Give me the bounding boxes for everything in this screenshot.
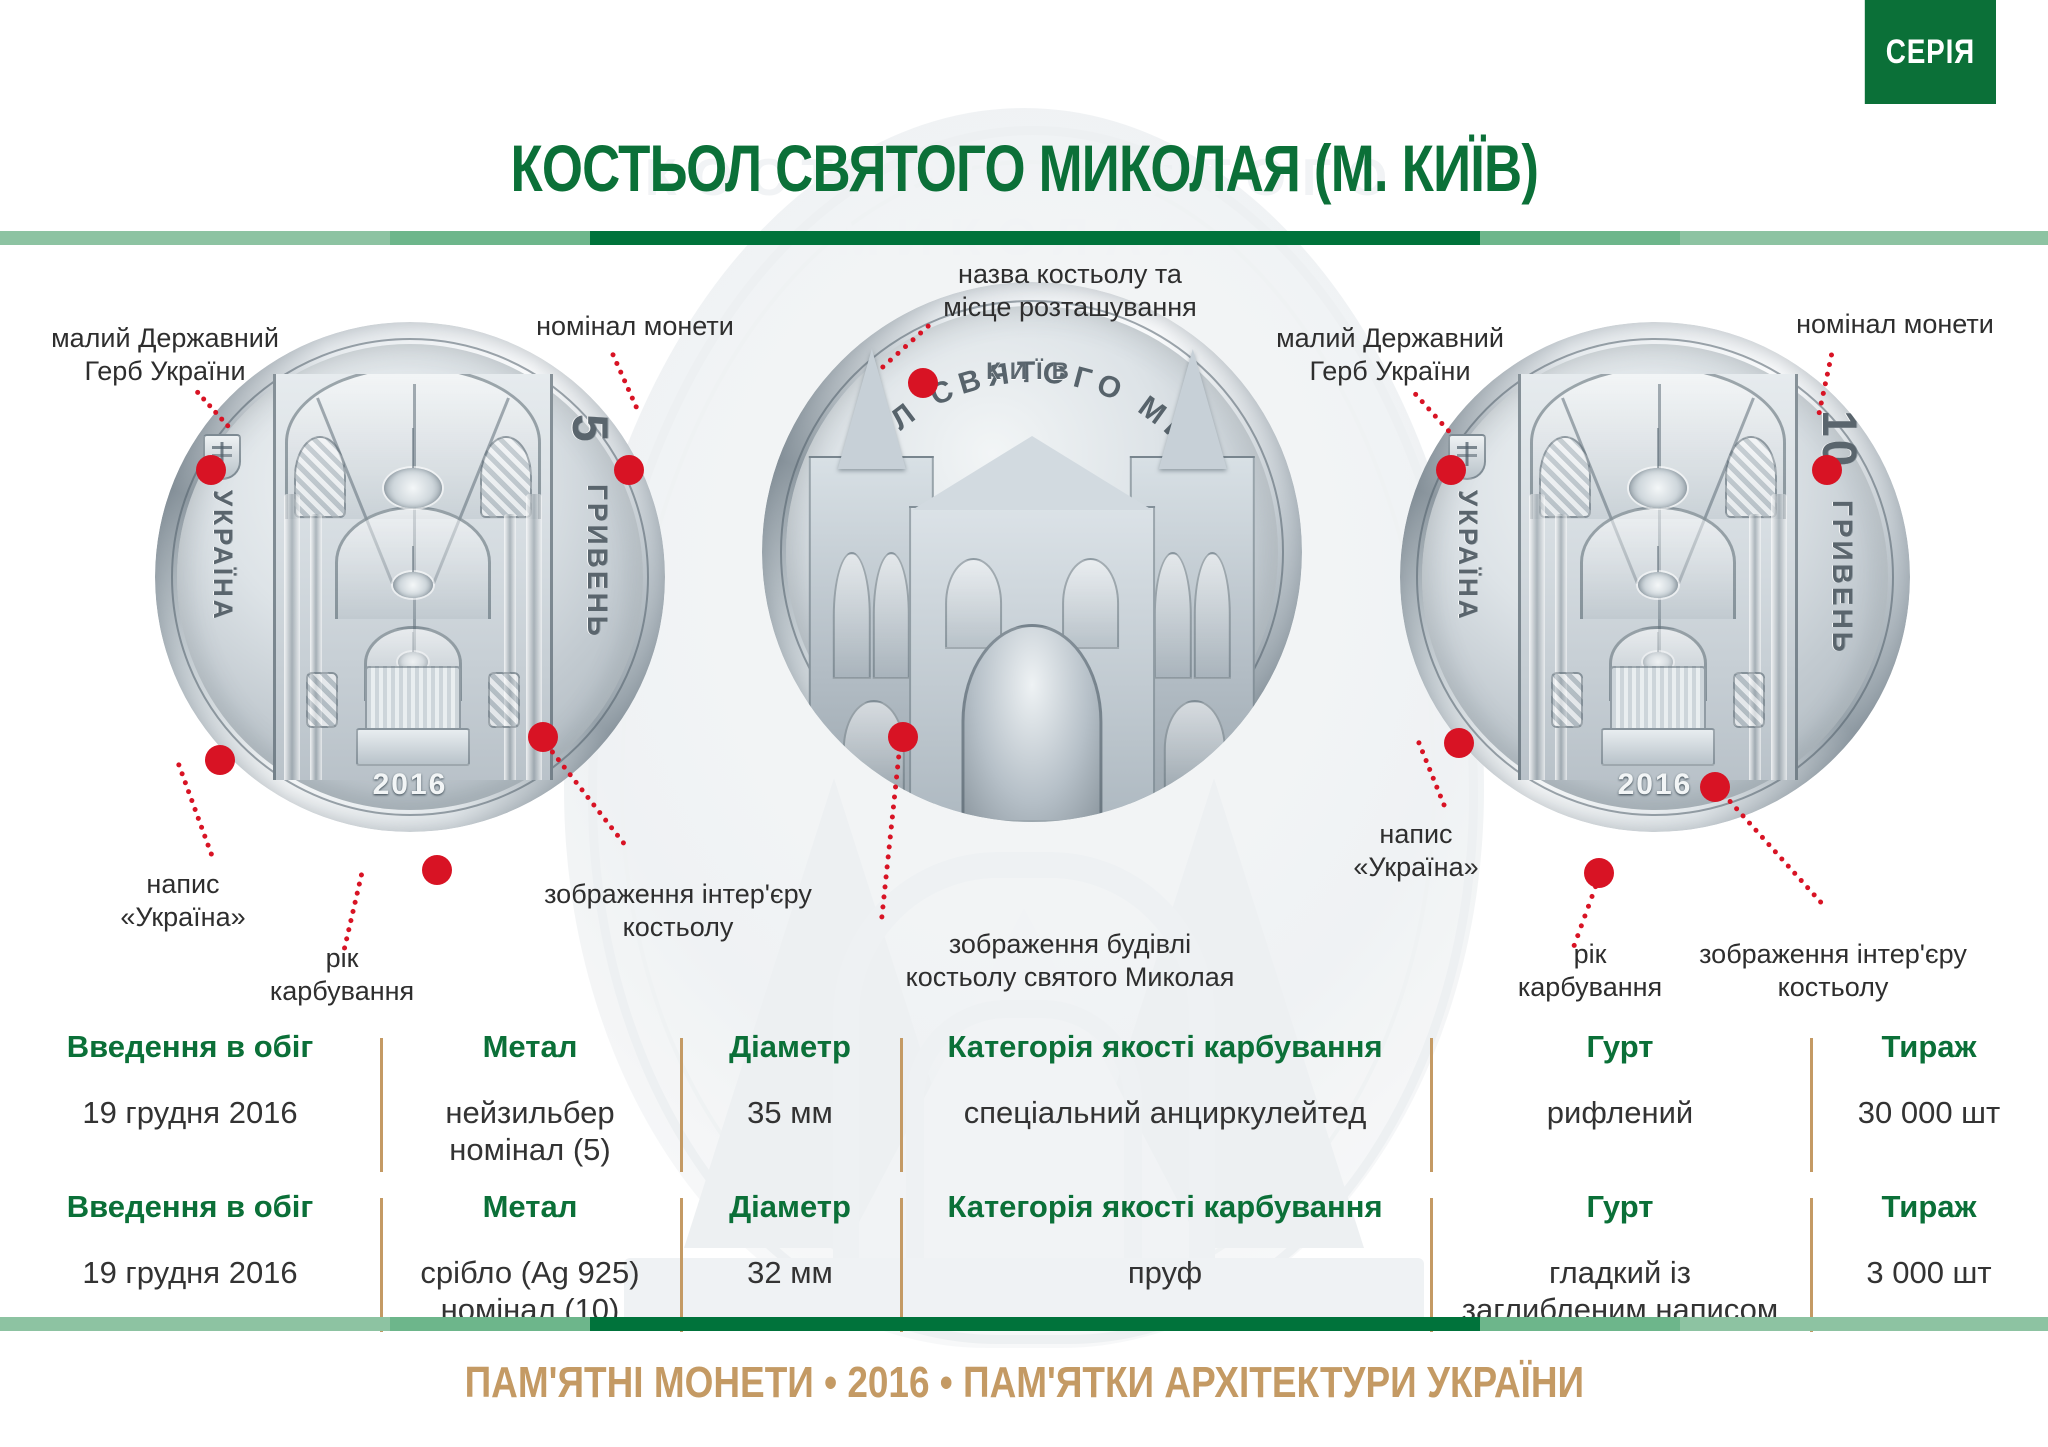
- col-header-date: Введення в обіг: [67, 1030, 314, 1064]
- cell-diameter: Діаметр 35 мм: [680, 1030, 900, 1180]
- annotation-right-year: рік карбування: [1480, 938, 1700, 1004]
- cell-date: Введення в обіг 19 грудня 2016: [0, 1030, 380, 1180]
- marker-dot: [888, 722, 918, 752]
- annotation-left-year: рік карбування: [232, 942, 452, 1008]
- marker-dot: [1700, 772, 1730, 802]
- annotation-right-inscription: напис «Україна»: [1296, 818, 1536, 884]
- leader-line: [1720, 791, 1824, 906]
- denomination-word: ГРИВЕНЬ: [581, 484, 613, 639]
- marker-dot: [1584, 858, 1614, 888]
- chandelier-large: [1629, 468, 1687, 508]
- col-header-edge: Гурт: [1587, 1030, 1654, 1064]
- mint-year: 2016: [373, 768, 448, 802]
- col-header-quality: Категорія якості карбування: [947, 1030, 1382, 1064]
- church-interior-panel: [1518, 374, 1798, 780]
- church-facade: [800, 401, 1264, 822]
- leader-line: [1412, 391, 1452, 434]
- value-mintage: 3 000 шт: [1866, 1254, 1991, 1291]
- divider-bottom: [0, 1317, 2048, 1331]
- value-date: 19 грудня 2016: [82, 1094, 297, 1131]
- col-header-diameter: Діаметр: [729, 1190, 851, 1224]
- col-header-quality: Категорія якості карбування: [947, 1190, 1382, 1224]
- annotation-left-inscription: напис «Україна»: [58, 868, 308, 934]
- marker-dot: [1812, 455, 1842, 485]
- denomination-word: ГРИВЕНЬ: [1826, 500, 1858, 655]
- leader-line: [1416, 740, 1448, 809]
- annotation-right-denomination: номінал монети: [1760, 308, 2030, 341]
- leader-line: [176, 762, 215, 858]
- marker-dot: [196, 455, 226, 485]
- col-header-metal: Метал: [483, 1030, 578, 1064]
- altar: [356, 728, 470, 766]
- organ: [365, 666, 461, 732]
- coin-reverse[interactable]: КОСТЬОЛ СВЯТОГО МИКОЛАЯ КИЇВ: [762, 282, 1302, 822]
- spec-table-row-1: Введення в обіг 19 грудня 2016 Метал ней…: [0, 1030, 2048, 1180]
- value-quality: пруф: [1128, 1254, 1202, 1291]
- annotation-center-name: назва костьолу та місце розташування: [870, 258, 1270, 324]
- coin-10-hryven[interactable]: УКРАЇНА 10 ГРИВЕНЬ 2016: [1400, 322, 1910, 832]
- value-quality: спеціальний анциркулейтед: [964, 1094, 1367, 1131]
- series-badge: СЕРІЯ: [1865, 0, 1996, 104]
- col-header-diameter: Діаметр: [729, 1030, 851, 1064]
- cell-edge: Гурт рифлений: [1430, 1030, 1810, 1180]
- annotation-left-interior: зображення інтер'єру костьолу: [518, 878, 838, 944]
- value-diameter: 35 мм: [747, 1094, 833, 1131]
- church-interior-panel: [273, 374, 553, 780]
- col-header-edge: Гурт: [1587, 1190, 1654, 1224]
- marker-dot: [908, 368, 938, 398]
- value-diameter: 32 мм: [747, 1254, 833, 1291]
- col-header-metal: Метал: [483, 1190, 578, 1224]
- cell-quality: Категорія якості карбування спеціальний …: [900, 1030, 1430, 1180]
- leader-line: [342, 872, 365, 951]
- annotation-right-emblem: малий Державний Герб України: [1240, 322, 1540, 388]
- denomination-numeral: 5: [561, 414, 619, 445]
- marker-dot: [422, 855, 452, 885]
- annotation-left-emblem: малий Державний Герб України: [20, 322, 310, 388]
- col-header-mintage: Тираж: [1882, 1190, 1977, 1224]
- coin-city-text: КИЇВ: [986, 358, 1078, 386]
- page-title: КОСТЬОЛ СВЯТОГО МИКОЛАЯ (М. КИЇВ): [0, 130, 2048, 206]
- country-inscription: УКРАЇНА: [1452, 490, 1483, 622]
- marker-dot: [1436, 455, 1466, 485]
- annotation-center-building: зображення будівлі костьолу святого Мико…: [840, 928, 1300, 994]
- marker-dot: [1444, 728, 1474, 758]
- chandelier-medium: [1638, 572, 1678, 598]
- mint-year: 2016: [1618, 768, 1693, 802]
- marker-dot: [614, 455, 644, 485]
- col-header-date: Введення в обіг: [67, 1190, 314, 1224]
- series-badge-label: СЕРІЯ: [1886, 33, 1975, 72]
- divider-top: [0, 231, 2048, 245]
- value-edge: рифлений: [1547, 1094, 1693, 1131]
- leader-line: [610, 351, 640, 410]
- country-inscription: УКРАЇНА: [207, 490, 238, 622]
- chandelier-medium: [393, 572, 433, 598]
- chandelier-large: [384, 468, 442, 508]
- organ: [1610, 666, 1706, 732]
- annotation-right-interior: зображення інтер'єру костьолу: [1668, 938, 1998, 1004]
- value-date: 19 грудня 2016: [82, 1254, 297, 1291]
- marker-dot: [528, 722, 558, 752]
- col-header-mintage: Тираж: [1882, 1030, 1977, 1064]
- annotation-left-denomination: номінал монети: [500, 310, 770, 343]
- page-title-text: КОСТЬОЛ СВЯТОГО МИКОЛАЯ (М. КИЇВ): [510, 130, 1538, 206]
- cell-mintage: Тираж 30 000 шт: [1810, 1030, 2048, 1180]
- cell-metal: Метал нейзильбер номінал (5): [380, 1030, 680, 1180]
- altar: [1601, 728, 1715, 766]
- footer-caption: ПАМ'ЯТНІ МОНЕТИ • 2016 • ПАМ'ЯТКИ АРХІТЕ…: [0, 1358, 2048, 1408]
- value-mintage: 30 000 шт: [1858, 1094, 2001, 1131]
- marker-dot: [205, 745, 235, 775]
- value-metal: нейзильбер номінал (5): [445, 1094, 614, 1168]
- footer-text: ПАМ'ЯТНІ МОНЕТИ • 2016 • ПАМ'ЯТКИ АРХІТЕ…: [464, 1358, 1583, 1408]
- main-portal: [961, 624, 1102, 820]
